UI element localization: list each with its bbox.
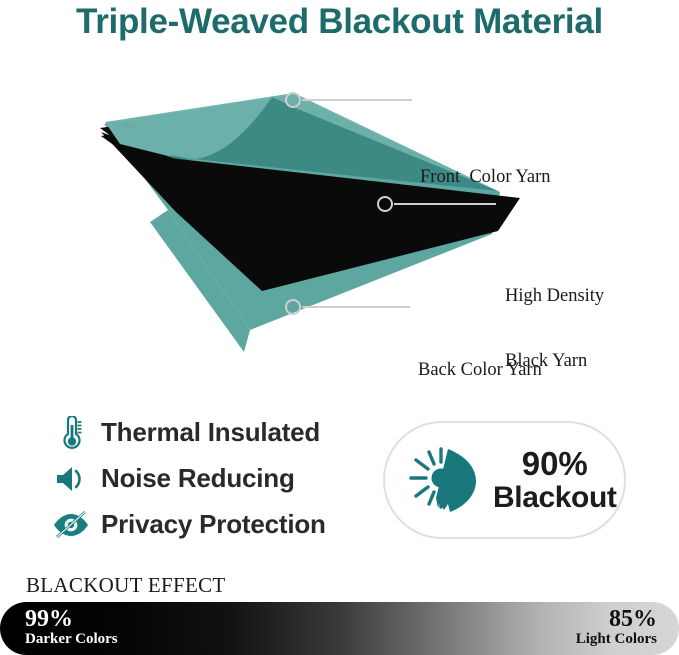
thermometer-icon <box>50 413 92 453</box>
feature-label-noise: Noise Reducing <box>101 463 295 494</box>
feature-noise-reducing: Noise Reducing <box>50 456 380 501</box>
fabric-layer-diagram: Front Color Yarn High Density Black Yarn… <box>0 62 679 362</box>
sun-behind-curtain-icon <box>401 440 485 520</box>
badge-word: Blackout <box>493 482 617 513</box>
feature-privacy-protection: Privacy Protection <box>50 502 380 547</box>
callout-label-back: Back Color Yarn <box>418 360 542 382</box>
darker-percent: 99% <box>25 607 118 632</box>
feature-label-thermal: Thermal Insulated <box>101 417 320 448</box>
blackout-effect-darker: 99% Darker Colors <box>25 607 118 648</box>
blackout-percentage-badge: 90% Blackout <box>383 421 626 539</box>
badge-percent: 90% <box>493 447 617 481</box>
callout-label-middle-line1: High Density <box>505 286 604 308</box>
feature-label-privacy: Privacy Protection <box>101 509 326 540</box>
darker-caption: Darker Colors <box>25 632 118 648</box>
page-title: Triple-Weaved Blackout Material <box>0 2 679 42</box>
feature-list: Thermal Insulated Noise Reducing <box>50 410 380 548</box>
product-infographic: Triple-Weaved Blackout Material <box>0 0 679 655</box>
feature-thermal-insulated: Thermal Insulated <box>50 410 380 455</box>
badge-text-group: 90% Blackout <box>493 447 617 513</box>
callout-label-front: Front Color Yarn <box>420 167 551 189</box>
blackout-effect-heading: BLACKOUT EFFECT <box>26 573 226 598</box>
speaker-icon <box>50 459 92 499</box>
blackout-effect-light: 85% Light Colors <box>576 607 657 648</box>
eye-slash-icon <box>50 505 92 545</box>
callout-label-middle: High Density Black Yarn <box>505 242 604 417</box>
light-percent: 85% <box>576 607 657 632</box>
light-caption: Light Colors <box>576 632 657 648</box>
